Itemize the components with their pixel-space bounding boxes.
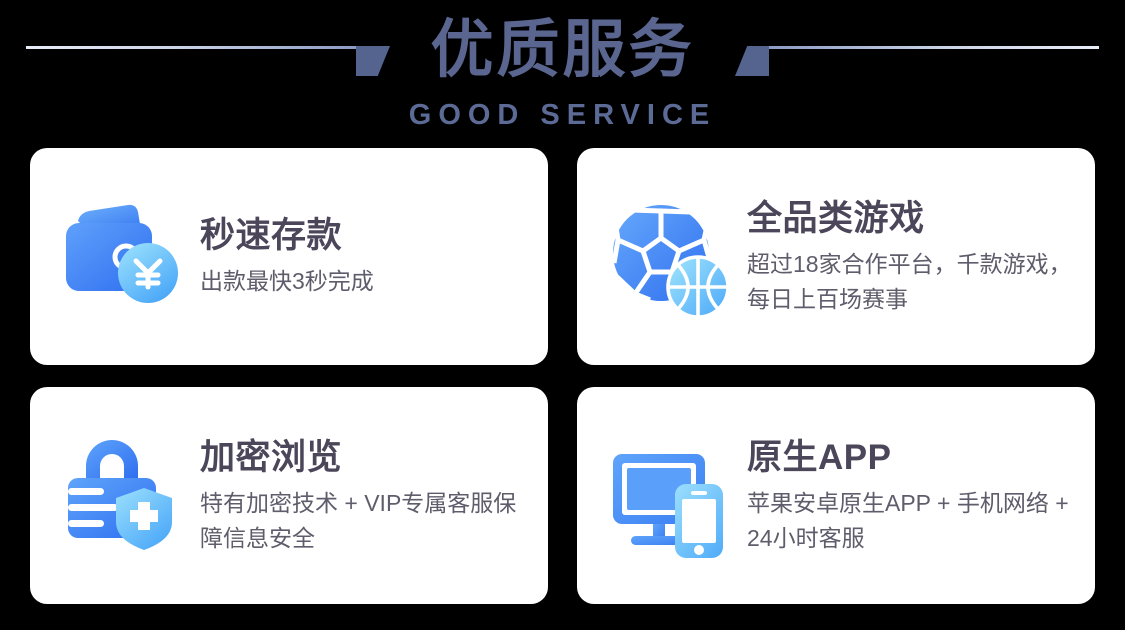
monitor-phone-icon [603,430,735,562]
page-title: 优质服务 [0,12,1125,88]
card-title: 原生APP [747,436,1085,480]
wallet-icon [56,191,188,323]
card-text: 加密浏览 特有加密技术 + VIP专属客服保障信息安全 [188,436,538,556]
sports-ball-icon [603,191,735,323]
card-description: 苹果安卓原生APP + 手机网络 + 24小时客服 [747,486,1085,556]
card-description: 特有加密技术 + VIP专属客服保障信息安全 [200,486,538,556]
feature-card[interactable]: 全品类游戏 超过18家合作平台，千款游戏，每日上百场赛事 [577,148,1095,365]
page-subtitle: GOOD SERVICE [0,98,1125,132]
feature-card[interactable]: 秒速存款 出款最快3秒完成 [30,148,548,365]
card-text: 原生APP 苹果安卓原生APP + 手机网络 + 24小时客服 [735,436,1085,556]
feature-card-grid: 秒速存款 出款最快3秒完成 [30,148,1095,604]
feature-card[interactable]: 原生APP 苹果安卓原生APP + 手机网络 + 24小时客服 [577,387,1095,604]
card-text: 秒速存款 出款最快3秒完成 [188,214,538,299]
card-title: 秒速存款 [200,214,538,258]
card-title: 加密浏览 [200,436,538,480]
feature-card[interactable]: 加密浏览 特有加密技术 + VIP专属客服保障信息安全 [30,387,548,604]
card-title: 全品类游戏 [747,197,1085,241]
page-header: 优质服务 GOOD SERVICE [0,0,1125,140]
card-text: 全品类游戏 超过18家合作平台，千款游戏，每日上百场赛事 [735,197,1085,317]
card-description: 超过18家合作平台，千款游戏，每日上百场赛事 [747,247,1085,317]
card-description: 出款最快3秒完成 [200,264,538,299]
lock-shield-icon [56,430,188,562]
